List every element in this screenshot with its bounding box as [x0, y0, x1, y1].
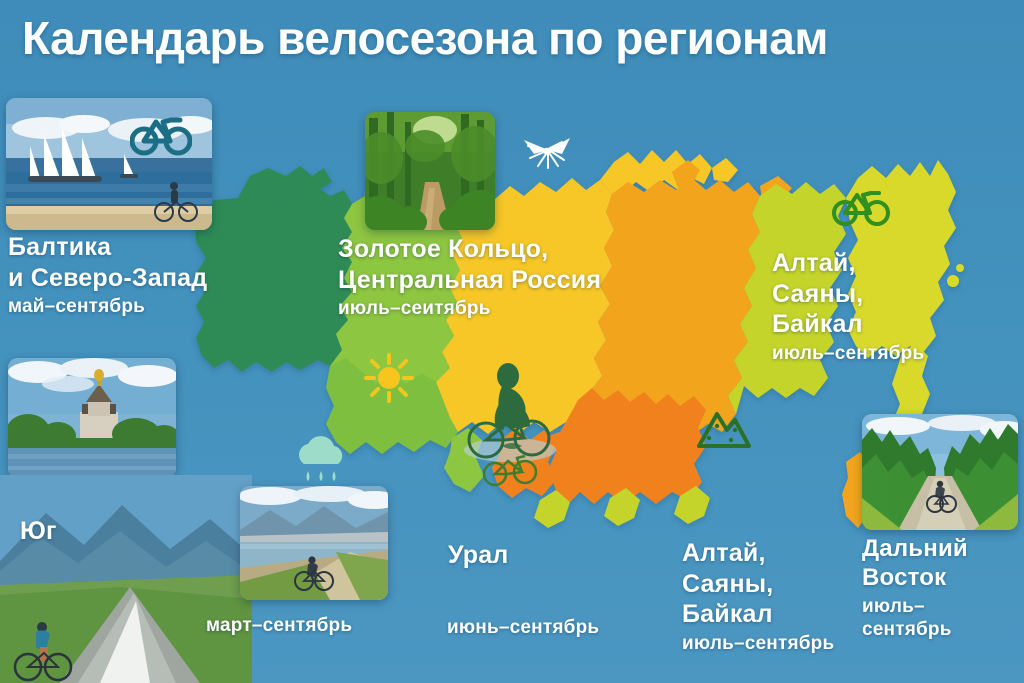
region-name: Урал: [448, 540, 508, 571]
bicycle-icon: [832, 182, 890, 228]
region-label-ural: Урал: [448, 540, 508, 571]
region-label-far-east: Дальний Восток июль– сентябрь: [862, 534, 968, 641]
mosquito-icon: [518, 126, 574, 174]
map-region-arctic-island-b: [712, 158, 738, 182]
photo-far-east-road: [862, 414, 1018, 530]
bicycle-icon: [130, 108, 192, 158]
photo-south-lake-road: [240, 486, 388, 600]
sun-icon: [363, 352, 415, 404]
photo-south-mountain-road: [0, 475, 252, 683]
infographic-canvas: Календарь велосезона по регионам Балтика…: [0, 0, 1024, 683]
region-period: июль–сентябрь: [772, 342, 924, 365]
region-name: Золотое Кольцо, Центральная Россия: [338, 234, 601, 295]
region-label-altai-north: Алтай, Саяны, Байкал июль–сентябрь: [772, 248, 924, 365]
region-label-south: Юг: [20, 516, 57, 547]
page-title: Календарь велосезона по регионам: [22, 14, 1002, 62]
map-island-dot-2: [956, 264, 964, 272]
region-period-south: март–сентябрь: [206, 612, 352, 637]
region-name: Алтай, Саяны, Байкал: [772, 248, 924, 340]
region-period: май–сентябрь: [8, 295, 207, 318]
mountain-icon: [693, 404, 755, 454]
cloud-rain-icon: [288, 430, 352, 488]
region-period: июль–сентябрь: [682, 632, 834, 655]
region-name: Юг: [20, 516, 57, 547]
region-period-ural: июнь–сентябрь: [447, 614, 599, 639]
photo-central-forest: [365, 112, 495, 230]
region-label-altai-south: Алтай, Саяны, Байкал июль–сентябрь: [682, 538, 834, 655]
region-name: Дальний Восток: [862, 534, 968, 593]
map-region-baltic: [196, 186, 352, 372]
photo-south-church: [8, 358, 176, 478]
region-period: март–сентябрь: [206, 614, 352, 637]
region-name: Алтай, Саяны, Байкал: [682, 538, 834, 630]
region-period: июль– сентябрь: [862, 595, 968, 641]
region-label-baltic: Балтика и Северо-Запад май–сентябрь: [8, 232, 207, 318]
cyclist-icon: [462, 358, 558, 488]
region-period: июль–сеитябрь: [338, 297, 601, 320]
region-period: июнь–сентябрь: [447, 616, 599, 639]
map-island-dot-1: [947, 275, 959, 287]
region-label-golden-ring: Золотое Кольцо, Центральная Россия июль–…: [338, 234, 601, 320]
region-name: Балтика и Северо-Запад: [8, 232, 207, 293]
